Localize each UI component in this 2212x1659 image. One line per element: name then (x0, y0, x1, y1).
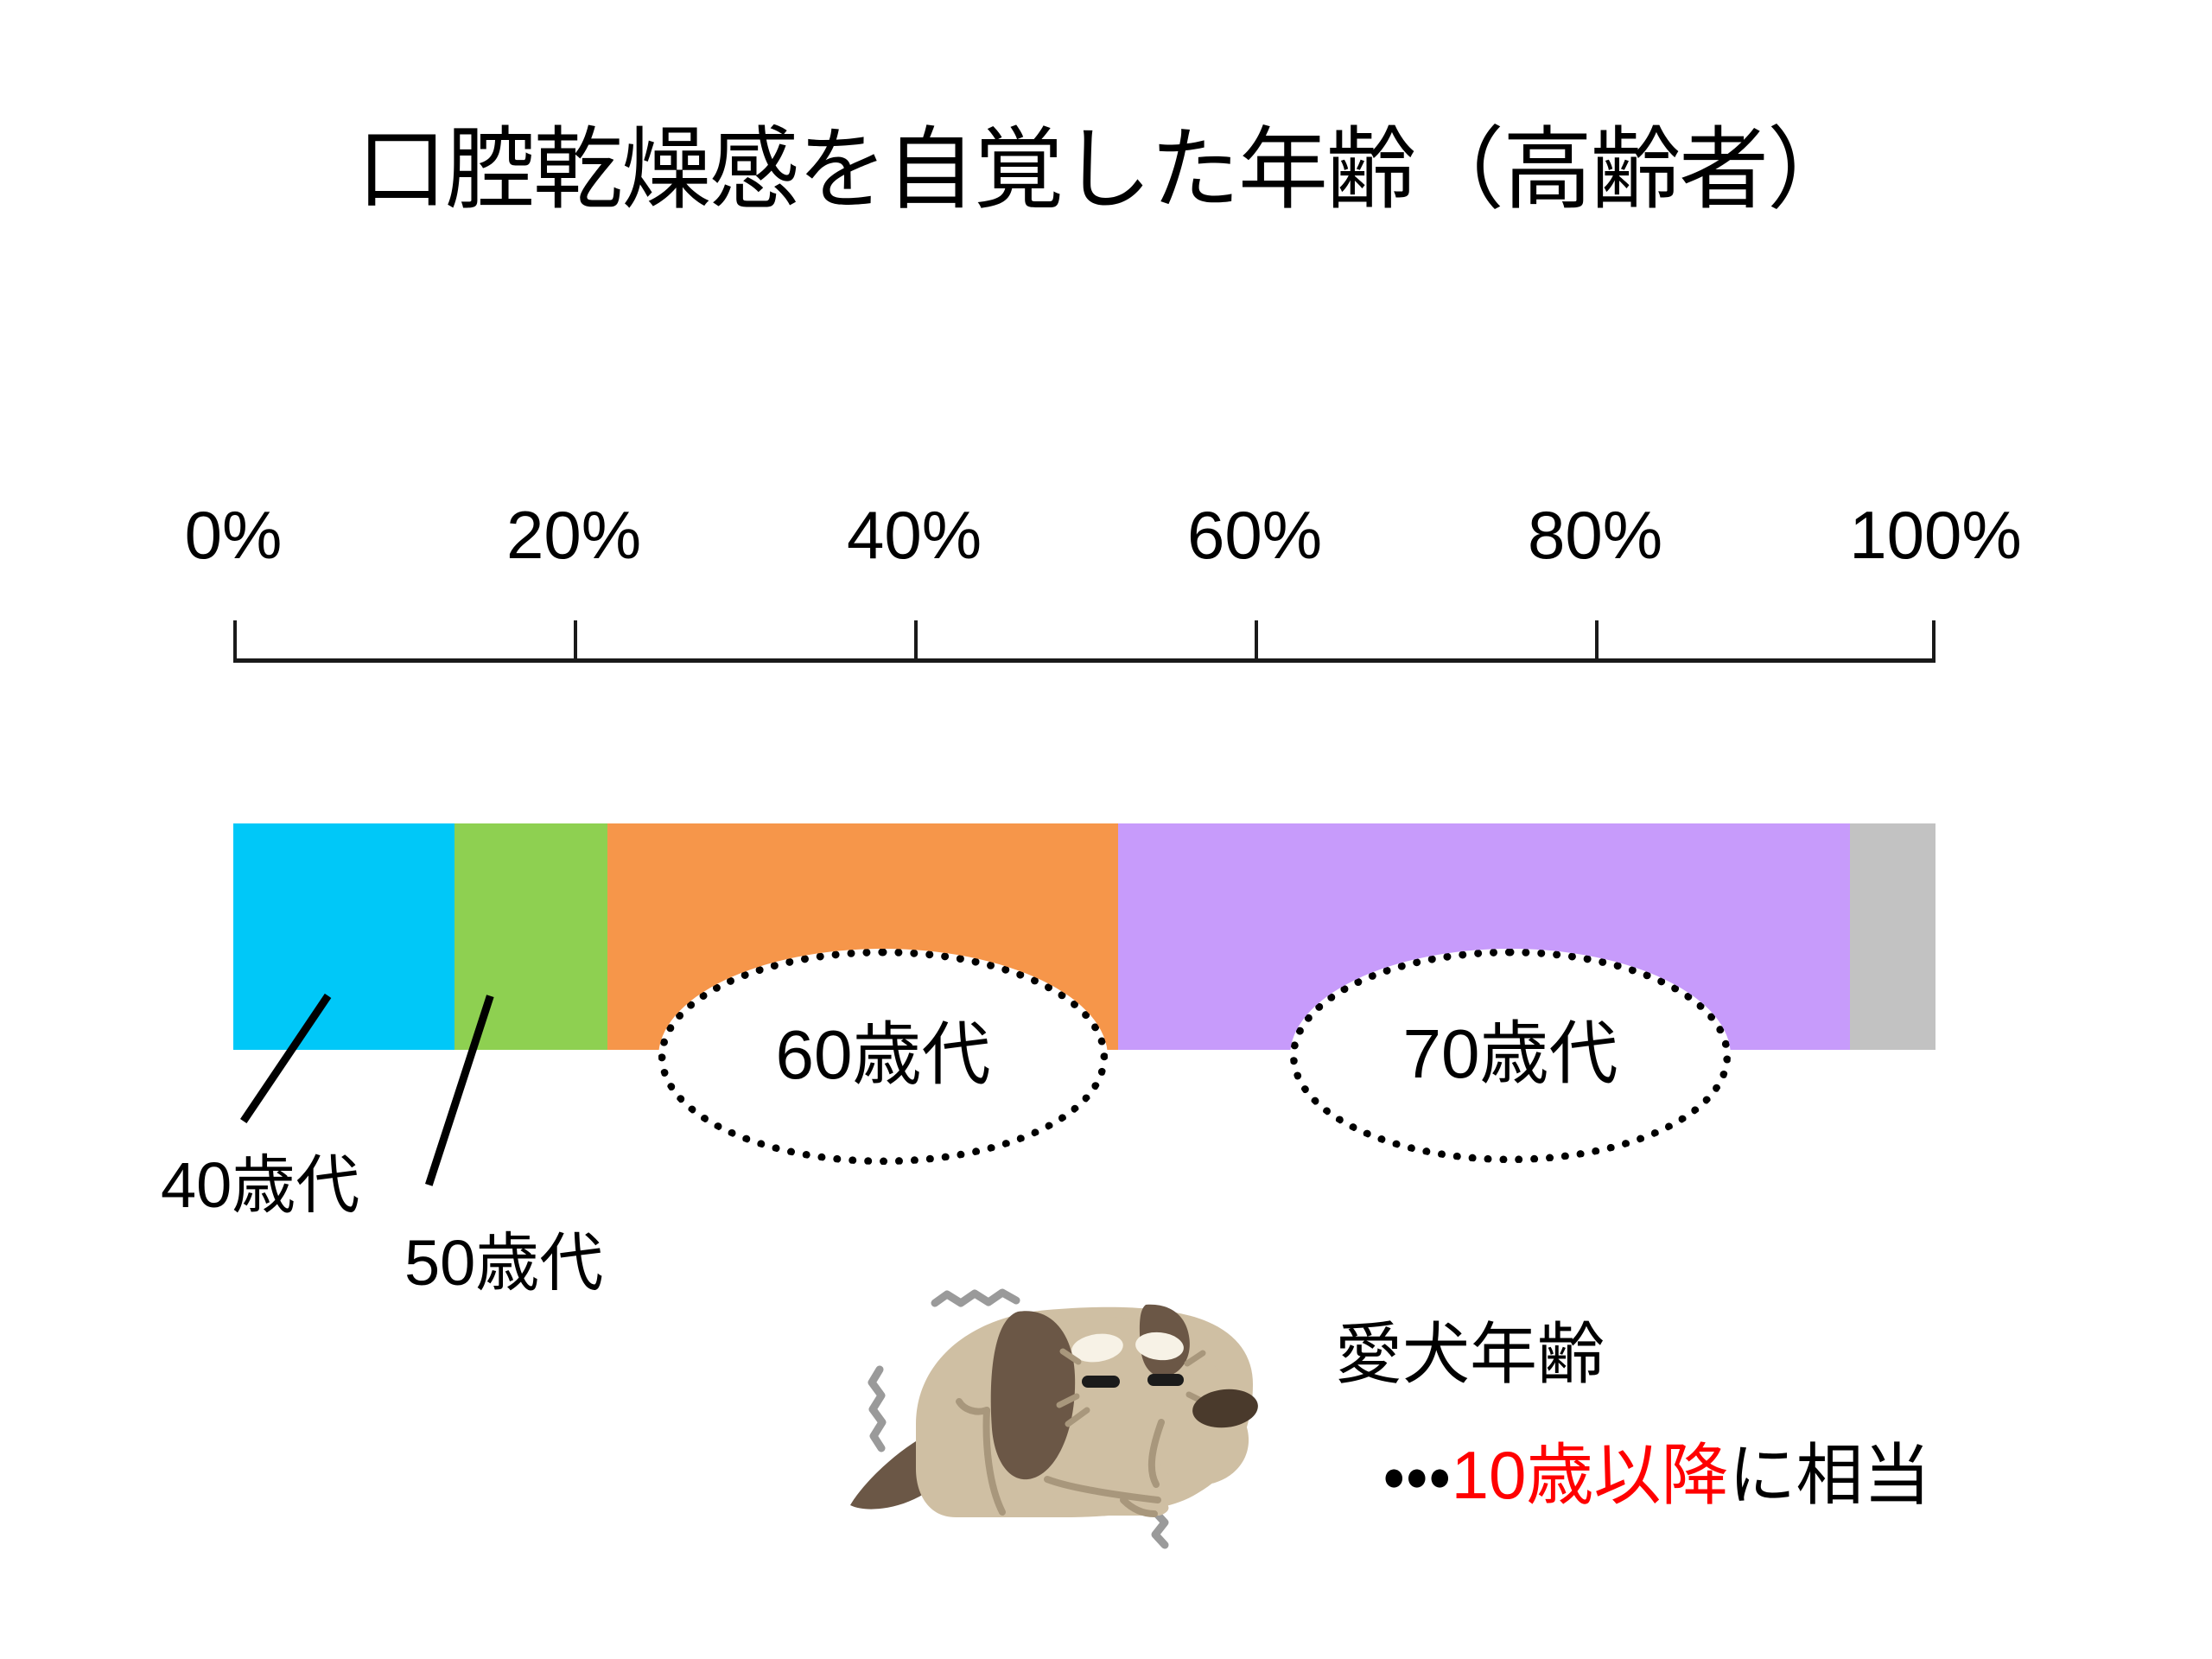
label-50s: 50歳代 (404, 1231, 603, 1295)
page-title: 口腔乾燥感を自覚した年齢（高齢者） (0, 121, 2212, 219)
callout-ellipse-70s-label: 70歳代 (1403, 1020, 1618, 1089)
dog-eye-right (1147, 1374, 1184, 1386)
note-prefix: ・・・ (1382, 1437, 1452, 1513)
callout-ellipse-60s: 60歳代 (658, 949, 1108, 1165)
axis-tick-100 (1932, 620, 1935, 662)
note-suffix: に相当 (1728, 1437, 1930, 1513)
callout-ellipse-60s-label: 60歳代 (776, 1020, 991, 1090)
note-line-1: 愛犬年齢 (1335, 1320, 1605, 1388)
axis-tick-80 (1595, 620, 1599, 662)
axis-tick-label-40: 40% (847, 501, 982, 569)
note-highlight: 10歳以降 (1452, 1437, 1729, 1513)
bar-segment-40s[interactable] (233, 823, 454, 1050)
axis-tick-label-0: 0% (185, 501, 283, 569)
axis-tick-label-100: 100% (1849, 501, 2022, 569)
axis-tick-labels: 0% 20% 40% 60% 80% 100% (0, 501, 2212, 588)
axis-tick-label-20: 20% (506, 501, 641, 569)
axis-tick-40 (914, 620, 918, 662)
bar-segment-others[interactable] (1850, 823, 1935, 1050)
axis-tick-20 (574, 620, 577, 662)
axis-tick-60 (1255, 620, 1258, 662)
label-40s: 40歳代 (161, 1154, 359, 1217)
axis-tick-label-60: 60% (1187, 501, 1322, 569)
dog-eye-left (1082, 1376, 1120, 1388)
callout-ellipse-70s: 70歳代 (1290, 949, 1731, 1163)
axis-tick-0 (233, 620, 237, 662)
tired-dog-illustration (804, 1253, 1270, 1599)
bar-segment-50s[interactable] (454, 823, 607, 1050)
slide-canvas: 口腔乾燥感を自覚した年齢（高齢者） 0% 20% 40% 60% 80% 100… (0, 0, 2212, 1659)
axis-line (233, 658, 1935, 663)
axis-tick-label-80: 80% (1528, 501, 1662, 569)
note-line-2: ・・・10歳以降に相当 (1382, 1441, 1930, 1509)
